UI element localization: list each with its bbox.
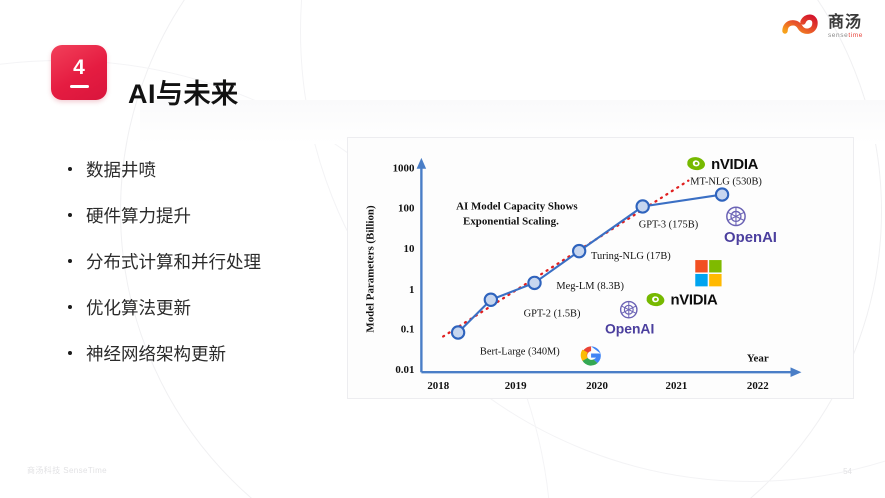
microsoft-logo <box>695 260 721 286</box>
chart-annotation: AI Model Capacity Shows Exponential Scal… <box>456 200 578 227</box>
y-tick-label: 0.1 <box>401 324 415 336</box>
bullet-dot-icon <box>68 213 72 217</box>
bullet-dot-icon <box>68 167 72 171</box>
bullet-dot-icon <box>68 259 72 263</box>
y-axis-tick-labels: 1000 100 10 1 0.1 0.01 <box>393 163 415 376</box>
list-item: 分布式计算和并行处理 <box>68 249 358 274</box>
annotation-line-2: Exponential Scaling. <box>463 215 559 227</box>
x-tick-label: 2020 <box>586 380 608 392</box>
sensetime-logo: 商汤 sensetime <box>781 14 863 40</box>
microsoft-square-green <box>709 260 721 272</box>
x-tick-label: 2019 <box>505 380 527 392</box>
x-axis-tick-labels: 2018 2019 2020 2021 2022 <box>427 380 768 392</box>
y-tick-label: 100 <box>398 202 415 214</box>
x-tick-label: 2021 <box>666 380 688 392</box>
logo-en-prefix: sense <box>828 32 848 39</box>
openai-knot-icon <box>727 207 745 225</box>
list-item-label: 优化算法更新 <box>86 295 191 320</box>
microsoft-square-yellow <box>709 274 721 286</box>
data-label-bert-large: Bert-Large (340M) <box>480 346 560 357</box>
logo-english-name: sensetime <box>828 33 863 40</box>
openai-wordmark: OpenAI <box>605 320 654 336</box>
y-tick-label: 1 <box>409 284 414 296</box>
model-scaling-chart: 1000 100 10 1 0.1 0.01 Model Parameters … <box>347 137 854 399</box>
nvidia-wordmark: nVIDIA <box>670 293 718 309</box>
list-item-label: 数据井喷 <box>86 157 156 182</box>
data-point-turing-nlg <box>573 245 585 257</box>
openai-knot-icon <box>621 302 637 318</box>
nvidia-logo-top: nVIDIA <box>687 157 758 173</box>
x-axis-title: Year <box>747 352 769 364</box>
google-logo <box>581 346 601 365</box>
openai-logo-top: OpenAI <box>724 207 777 246</box>
y-axis-title: Model Parameters (Billion) <box>365 205 377 333</box>
data-point-gpt-2 <box>485 294 497 306</box>
x-tick-label: 2018 <box>427 380 449 392</box>
y-tick-label: 1000 <box>393 163 415 175</box>
sensetime-logo-mark <box>781 14 821 40</box>
microsoft-square-red <box>695 260 707 272</box>
x-tick-label: 2022 <box>747 380 769 392</box>
data-label-gpt-2: GPT-2 (1.5B) <box>524 309 581 320</box>
openai-logo-bottom: OpenAI <box>605 302 654 337</box>
bullet-dot-icon <box>68 351 72 355</box>
y-tick-label: 0.01 <box>395 364 414 376</box>
section-number: 4 <box>73 57 85 78</box>
logo-en-suffix: time <box>848 32 863 39</box>
slide-canvas: 商汤 sensetime 4 AI与未来 数据井喷 硬件算力提升 分布式计算和并… <box>0 0 885 498</box>
microsoft-square-blue <box>695 274 707 286</box>
bullet-list: 数据井喷 硬件算力提升 分布式计算和并行处理 优化算法更新 神经网络架构更新 <box>68 157 358 387</box>
list-item-label: 硬件算力提升 <box>86 203 191 228</box>
list-item: 神经网络架构更新 <box>68 341 358 366</box>
logo-chinese-name: 商汤 <box>828 15 863 31</box>
section-number-badge: 4 <box>51 45 107 100</box>
y-tick-label: 10 <box>404 243 415 255</box>
list-item: 优化算法更新 <box>68 295 358 320</box>
list-item: 数据井喷 <box>68 157 358 182</box>
nvidia-logo-bottom: nVIDIA <box>647 293 718 309</box>
badge-underline <box>70 85 89 88</box>
nvidia-eye-icon <box>687 157 705 170</box>
data-label-mt-nlg: MT-NLG (530B) <box>690 177 762 188</box>
list-item: 硬件算力提升 <box>68 203 358 228</box>
data-label-meg-lm: Meg-LM (8.3B) <box>556 281 624 292</box>
data-point-gpt-3 <box>637 200 649 212</box>
list-item-label: 分布式计算和并行处理 <box>86 249 261 274</box>
page-number: 54 <box>843 467 852 476</box>
nvidia-wordmark: nVIDIA <box>711 157 759 173</box>
data-point-mt-nlg <box>716 188 728 200</box>
annotation-line-1: AI Model Capacity Shows <box>456 200 578 212</box>
data-point-bert-large <box>452 326 464 338</box>
data-point-meg-lm <box>528 277 540 289</box>
nvidia-eye-icon <box>647 293 665 306</box>
page-title: AI与未来 <box>128 72 239 111</box>
chart-svg: 1000 100 10 1 0.1 0.01 Model Parameters … <box>348 138 853 398</box>
chart-axes <box>417 158 802 377</box>
data-label-turing-nlg: Turing-NLG (17B) <box>591 251 671 262</box>
data-label-gpt-3: GPT-3 (175B) <box>639 219 699 230</box>
bullet-dot-icon <box>68 305 72 309</box>
sensetime-logo-text: 商汤 sensetime <box>828 15 863 40</box>
openai-wordmark: OpenAI <box>724 230 777 246</box>
list-item-label: 神经网络架构更新 <box>86 341 226 366</box>
footer-brand: 商汤科技 SenseTime <box>27 465 107 476</box>
